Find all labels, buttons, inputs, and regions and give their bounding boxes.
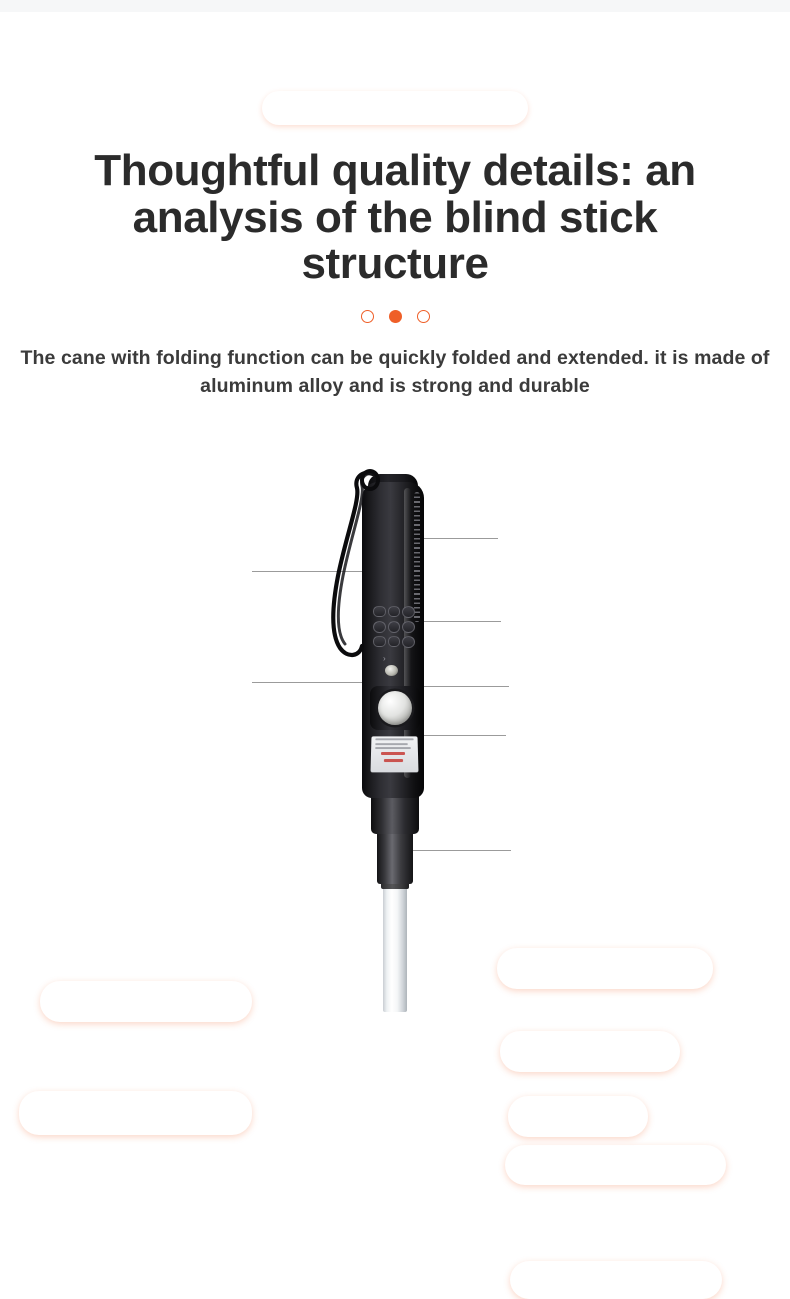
connector-line-ultrasonic <box>416 735 506 736</box>
page-title: Thoughtful quality details: an analysis … <box>0 148 790 288</box>
connector-line-battery-box <box>420 538 498 539</box>
carousel-dot-2-active[interactable] <box>389 310 402 323</box>
callout-label: ?ultrasonic sensor <box>519 1155 712 1175</box>
specification-sticker <box>370 736 418 772</box>
callout-functional-button-area[interactable]: �functional button area <box>500 1031 680 1072</box>
callout-label: �battery box (handle) <box>511 959 699 978</box>
page-header: STRUCTURAL ANALYSIS Thoughtful quality d… <box>0 12 790 400</box>
flash-marking-icon: › <box>383 654 386 663</box>
carousel-dots[interactable] <box>0 310 790 323</box>
cane-neck-lower <box>377 828 413 884</box>
carousel-dot-3[interactable] <box>417 310 430 323</box>
keypad-button-8[interactable] <box>388 636 401 647</box>
keypad-button-3[interactable] <box>402 606 415 618</box>
sticker-text-line-red <box>381 752 405 755</box>
carousel-dot-1[interactable] <box>361 310 374 323</box>
sticker-text-line-red <box>384 759 403 762</box>
connector-line-button-area <box>420 621 501 622</box>
connector-line-fastening <box>411 850 511 851</box>
keypad-button-2[interactable] <box>388 606 401 617</box>
callout-label: �cane rod fastening wire <box>524 1272 708 1288</box>
cane-rod-shaft <box>383 885 407 1012</box>
keypad-button-1[interactable] <box>373 606 386 617</box>
section-badge: STRUCTURAL ANALYSIS <box>262 91 529 125</box>
page-subtitle: The cane with folding function can be qu… <box>0 345 790 400</box>
callout-label: �functional button area <box>514 1035 666 1067</box>
keypad-button-5[interactable] <box>388 621 401 633</box>
callout-label: � multifunctional blind navigation syste… <box>35 1096 236 1130</box>
callout-multifunctional-blind-navigation-system[interactable]: � multifunctional blind navigation syste… <box>19 1091 252 1135</box>
callout-anti-falling-wrist-strap[interactable]: �anti-falling wrist strap <box>40 981 252 1022</box>
eyebrow-wrapper: STRUCTURAL ANALYSIS <box>0 91 790 125</box>
product-illustration-stage: › �anti-falling wrist strap � multifunct… <box>0 430 790 1012</box>
ultrasonic-sensor <box>378 691 412 725</box>
callout-flash[interactable]: Flash <box>508 1096 648 1137</box>
flash-led <box>385 665 398 676</box>
callout-battery-box-handle[interactable]: �battery box (handle) <box>497 948 713 989</box>
sticker-text-line <box>375 743 408 745</box>
sticker-text-line <box>375 739 414 741</box>
callout-ultrasonic-sensor[interactable]: ?ultrasonic sensor <box>505 1145 726 1185</box>
callout-label: �anti-falling wrist strap <box>54 994 238 1010</box>
top-background-strip <box>0 0 790 12</box>
keypad-button-7[interactable] <box>373 636 386 647</box>
keypad-button-4[interactable] <box>373 621 386 633</box>
functional-button-keypad[interactable] <box>373 606 415 648</box>
handle-grip-texture <box>414 492 420 622</box>
keypad-button-6[interactable] <box>402 621 415 633</box>
keypad-button-9[interactable] <box>402 636 415 648</box>
callout-label: Flash <box>526 1102 630 1131</box>
sticker-text-line <box>375 747 411 749</box>
callout-cane-rod-fastening-wire[interactable]: �cane rod fastening wire <box>510 1261 722 1299</box>
